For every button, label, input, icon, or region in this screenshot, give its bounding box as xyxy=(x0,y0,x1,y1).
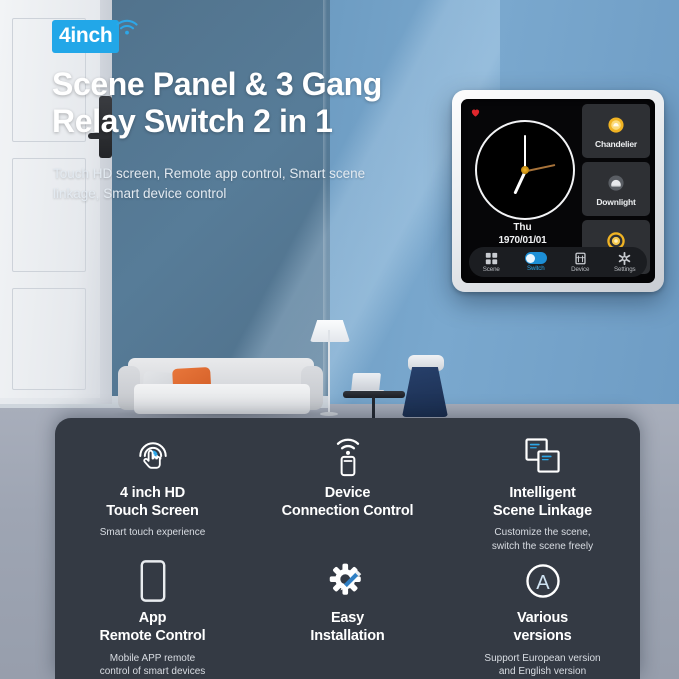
wifi-icon xyxy=(114,16,142,36)
feature-row-1: 4 inch HD Touch Screen Smart touch exper… xyxy=(55,418,640,553)
floor-lamp-pole xyxy=(328,330,330,416)
size-badge: 4inch xyxy=(52,20,119,53)
feature-easy-installation: Easy Installation xyxy=(250,559,445,678)
feature-various-versions: A Various versions Support European vers… xyxy=(445,559,640,678)
side-table-leg xyxy=(372,396,375,418)
clock-date-label: 1970/01/01 xyxy=(466,235,579,246)
feature-app-remote: App Remote Control Mobile APP remote con… xyxy=(55,559,250,678)
sofa-seat xyxy=(134,384,310,414)
feature-desc-line-1: Mobile APP remote xyxy=(100,652,206,666)
feature-title-line-1: Various xyxy=(513,610,571,628)
gear-icon xyxy=(618,252,631,265)
switch-tile-label: Downlight xyxy=(596,197,635,207)
nav-item-device[interactable]: Device xyxy=(558,252,603,273)
feature-title-line-2: Remote Control xyxy=(100,628,206,646)
headline-line-1: Scene Panel & 3 Gang xyxy=(52,66,452,103)
armchair-body xyxy=(402,367,448,417)
clock-day-label: Thu xyxy=(466,222,579,233)
feature-description: Smart touch experience xyxy=(100,526,206,540)
feature-desc-line-2: control of smart devices xyxy=(100,665,206,679)
feature-desc-line-2: switch the scene freely xyxy=(492,540,593,554)
feature-desc-line-1: Customize the scene, xyxy=(492,526,593,540)
scene-linkage-icon xyxy=(521,434,565,478)
feature-title-line-2: Connection Control xyxy=(282,503,414,521)
size-badge-group: 4inch xyxy=(52,20,119,53)
feature-title: Various versions xyxy=(513,610,571,645)
feature-panel: 4 inch HD Touch Screen Smart touch exper… xyxy=(55,418,640,679)
feature-device-connection: Device Connection Control xyxy=(250,434,445,553)
nav-item-settings[interactable]: Settings xyxy=(603,252,648,273)
smart-scene-panel-device: Thu 1970/01/01 Chandelier xyxy=(452,90,664,292)
wifi-device-icon xyxy=(328,434,368,478)
feature-description: Mobile APP remote control of smart devic… xyxy=(100,652,206,679)
nav-item-label: Switch xyxy=(527,265,545,272)
device-screen[interactable]: Thu 1970/01/01 Chandelier xyxy=(461,99,655,283)
feature-title-line-1: Easy xyxy=(310,610,384,628)
sofa xyxy=(118,358,323,416)
floor-lamp-base xyxy=(320,412,338,416)
feature-title: Intelligent Scene Linkage xyxy=(493,485,592,520)
feature-title: 4 inch HD Touch Screen xyxy=(106,485,198,520)
feature-touch-screen: 4 inch HD Touch Screen Smart touch exper… xyxy=(55,434,250,553)
nav-item-scene[interactable]: Scene xyxy=(469,252,514,273)
touch-screen-icon xyxy=(133,434,173,478)
feature-title: Device Connection Control xyxy=(282,485,414,520)
feature-title-line-1: Device xyxy=(282,485,414,503)
toggle-icon xyxy=(525,252,547,264)
feature-desc-line-2: and English version xyxy=(484,665,600,679)
feature-title-line-1: 4 inch HD xyxy=(106,485,198,503)
feature-description: Customize the scene, switch the scene fr… xyxy=(492,526,593,553)
feature-title-line-2: versions xyxy=(513,628,571,646)
subheadline: Touch HD screen, Remote app control, Sma… xyxy=(53,164,398,203)
switch-tile-downlight[interactable]: Downlight xyxy=(582,162,650,216)
nav-item-label: Scene xyxy=(483,266,500,273)
switch-tile-chandelier[interactable]: Chandelier xyxy=(582,104,650,158)
gear-screwdriver-icon xyxy=(327,559,369,603)
feature-desc-line-1: Support European version xyxy=(484,652,600,666)
nav-item-label: Device xyxy=(571,266,589,273)
feature-row-2: App Remote Control Mobile APP remote con… xyxy=(55,553,640,678)
feature-description: Support European version and English ver… xyxy=(484,652,600,679)
clock-hour-hand xyxy=(513,171,526,194)
door-panel xyxy=(12,288,86,390)
downlight-icon xyxy=(605,172,627,194)
device-icon xyxy=(574,252,587,265)
svg-text:A: A xyxy=(536,572,550,594)
smartphone-icon xyxy=(139,559,167,603)
feature-desc-line-1: Smart touch experience xyxy=(100,526,206,540)
feature-title: App Remote Control xyxy=(100,610,206,645)
headline-line-2: Relay Switch 2 in 1 xyxy=(52,103,452,140)
grid-icon xyxy=(485,252,498,265)
feature-title-line-2: Touch Screen xyxy=(106,503,198,521)
page-title: Scene Panel & 3 Gang Relay Switch 2 in 1 xyxy=(52,66,452,141)
device-bottom-nav: Scene Switch Device xyxy=(469,247,647,277)
feature-title-line-2: Installation xyxy=(310,628,384,646)
armchair xyxy=(400,355,452,417)
feature-scene-linkage: Intelligent Scene Linkage Customize the … xyxy=(445,434,640,553)
letter-a-circle-icon: A xyxy=(522,559,564,603)
nav-item-switch[interactable]: Switch xyxy=(514,252,559,272)
nav-item-label: Settings xyxy=(614,266,636,273)
bulb-icon xyxy=(605,114,627,136)
feature-title-line-2: Scene Linkage xyxy=(493,503,592,521)
wall-corner-edge xyxy=(323,0,327,430)
clock-face xyxy=(475,120,575,220)
clock-center-pin xyxy=(521,166,529,174)
feature-title: Easy Installation xyxy=(310,610,384,645)
clock-second-hand xyxy=(525,164,555,172)
switch-tile-label: Chandelier xyxy=(595,139,637,149)
feature-title-line-1: App xyxy=(100,610,206,628)
product-marketing-image: 4inch Scene Panel & 3 Gang Relay Switch … xyxy=(0,0,679,679)
feature-title-line-1: Intelligent xyxy=(493,485,592,503)
